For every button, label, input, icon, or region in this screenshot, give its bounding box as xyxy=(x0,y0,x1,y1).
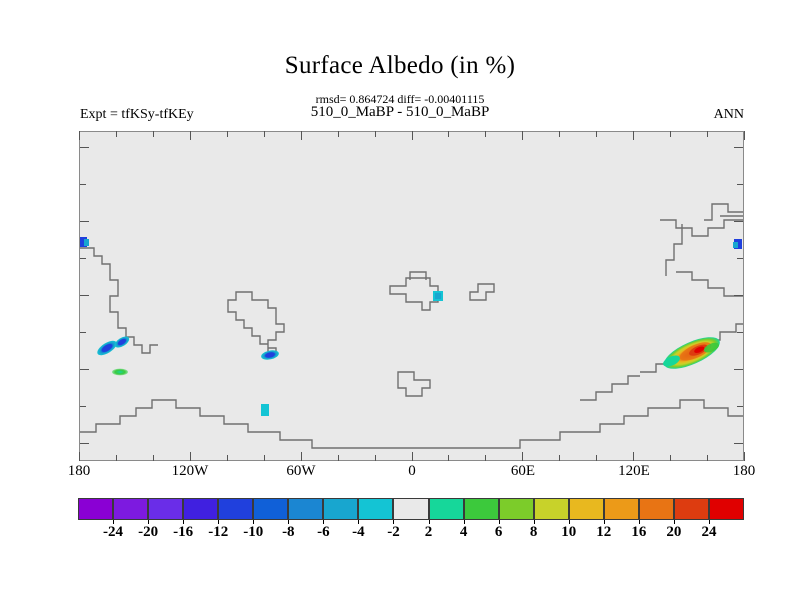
colorbar-swatch-4 xyxy=(218,498,253,520)
x-tick-bottom--40 xyxy=(338,455,339,461)
colorbar-label-16: 16 xyxy=(631,524,646,541)
x-tick-top-160 xyxy=(707,131,708,137)
y-tick-60s xyxy=(80,406,86,407)
x-tick-bottom--120 xyxy=(190,452,191,461)
x-tick-top--60 xyxy=(301,131,302,140)
colorbar-swatch-15 xyxy=(604,498,639,520)
colorbar-swatch-10 xyxy=(429,498,464,520)
colorbar-label--4: -4 xyxy=(352,524,365,541)
x-tick-top-140 xyxy=(670,131,671,137)
colorbar-swatch-12 xyxy=(499,498,534,520)
y-tick-right-60s xyxy=(737,406,743,407)
colorbar xyxy=(78,498,744,520)
x-tick-bottom-0 xyxy=(412,452,413,461)
colorbar-label-8: 8 xyxy=(530,524,538,541)
colorbar-label--6: -6 xyxy=(317,524,330,541)
colorbar-label--8: -8 xyxy=(282,524,295,541)
colorbar-swatch-16 xyxy=(639,498,674,520)
colorbar-swatch-11 xyxy=(464,498,499,520)
colorbar-swatch-18 xyxy=(709,498,744,520)
colorbar-label-6: 6 xyxy=(495,524,503,541)
x-tick-bottom-40 xyxy=(485,455,486,461)
anomaly-east-dateline xyxy=(733,239,742,249)
x-tick-bottom-20 xyxy=(448,455,449,461)
x-tick-bottom--100 xyxy=(227,455,228,461)
x-tick-bottom--140 xyxy=(153,455,154,461)
colorbar-swatch-0 xyxy=(78,498,113,520)
colorbar-swatch-17 xyxy=(674,498,709,520)
y-tick-80s xyxy=(80,443,89,444)
x-tick-top--160 xyxy=(116,131,117,137)
colorbar-swatch-6 xyxy=(288,498,323,520)
x-axis-label-180e: 180 xyxy=(733,463,756,480)
y-tick-right-60n xyxy=(737,184,743,185)
x-tick-top--20 xyxy=(375,131,376,137)
x-tick-top--40 xyxy=(338,131,339,137)
colorbar-label-2: 2 xyxy=(425,524,433,541)
y-tick-right-40n xyxy=(734,221,743,222)
y-tick-40s xyxy=(80,369,89,370)
x-tick-bottom--60 xyxy=(301,452,302,461)
y-tick-40n xyxy=(80,221,89,222)
y-tick-right-20n xyxy=(737,258,743,259)
x-tick-top-20 xyxy=(448,131,449,137)
colorbar-swatch-1 xyxy=(113,498,148,520)
colorbar-label-20: 20 xyxy=(666,524,681,541)
colorbar-swatch-2 xyxy=(148,498,183,520)
experiment-label: Expt = tfKSy-tfKEy xyxy=(80,107,194,123)
colorbar-swatch-13 xyxy=(534,498,569,520)
x-tick-top--140 xyxy=(153,131,154,137)
colorbar-label-24: 24 xyxy=(701,524,716,541)
y-tick-right-80s xyxy=(734,443,743,444)
x-axis-label-0: 0 xyxy=(408,463,416,480)
x-axis-label-120w: 120W xyxy=(172,463,209,480)
x-tick-bottom--20 xyxy=(375,455,376,461)
x-tick-top--100 xyxy=(227,131,228,137)
x-axis-label-180w: 180 xyxy=(68,463,91,480)
page-title: Surface Albedo (in %) xyxy=(0,52,800,80)
x-axis-label-120e: 120E xyxy=(618,463,650,480)
x-tick-bottom-100 xyxy=(596,455,597,461)
x-tick-top-100 xyxy=(596,131,597,137)
y-tick-right-80n xyxy=(734,147,743,148)
map-plot-area xyxy=(79,131,744,461)
y-tick-right-0 xyxy=(734,295,743,296)
colorbar-label-12: 12 xyxy=(596,524,611,541)
x-tick-bottom-120 xyxy=(633,452,634,461)
y-tick-20s xyxy=(80,332,86,333)
y-tick-right-40s xyxy=(734,369,743,370)
y-tick-20n xyxy=(80,258,86,259)
anomaly-southeast-pacific-warm-speck xyxy=(112,369,128,376)
colorbar-label--16: -16 xyxy=(173,524,193,541)
colorbar-swatch-7 xyxy=(323,498,358,520)
colorbar-label-10: 10 xyxy=(561,524,576,541)
colorbar-label--24: -24 xyxy=(103,524,123,541)
x-tick-bottom-60 xyxy=(522,452,523,461)
x-tick-top--120 xyxy=(190,131,191,140)
colorbar-swatch-8 xyxy=(358,498,393,520)
colorbar-label-4: 4 xyxy=(460,524,468,541)
colorbar-swatch-9 xyxy=(393,498,428,520)
anomaly-west-dateline xyxy=(80,237,89,247)
x-axis-label-60w: 60W xyxy=(286,463,315,480)
x-tick-bottom--80 xyxy=(264,455,265,461)
x-tick-top-80 xyxy=(559,131,560,137)
time-period-label: ANN xyxy=(714,107,744,123)
x-tick-bottom-180 xyxy=(744,452,745,461)
x-axis-label-60e: 60E xyxy=(511,463,535,480)
x-tick-bottom--160 xyxy=(116,455,117,461)
anomaly-equatorial-africa xyxy=(433,291,443,301)
x-tick-top--180 xyxy=(79,131,80,140)
anomaly-patagonia xyxy=(260,349,279,361)
anomaly-antarctic-peninsula xyxy=(261,404,269,416)
y-tick-60n xyxy=(80,184,86,185)
colorbar-swatch-5 xyxy=(253,498,288,520)
x-tick-bottom-140 xyxy=(670,455,671,461)
colorbar-swatch-3 xyxy=(183,498,218,520)
x-tick-bottom--180 xyxy=(79,452,80,461)
anomaly-southeast-australia xyxy=(659,331,724,376)
x-tick-top-180 xyxy=(744,131,745,140)
x-tick-top-120 xyxy=(633,131,634,140)
y-tick-80n xyxy=(80,147,89,148)
x-tick-top-40 xyxy=(485,131,486,137)
anomaly-southeast-pacific-a xyxy=(95,338,119,358)
y-tick-0 xyxy=(80,295,89,296)
colorbar-label--10: -10 xyxy=(243,524,263,541)
world-map-coastlines xyxy=(80,132,743,460)
x-tick-top--80 xyxy=(264,131,265,137)
colorbar-label--20: -20 xyxy=(138,524,158,541)
x-tick-top-60 xyxy=(522,131,523,140)
x-tick-bottom-160 xyxy=(707,455,708,461)
colorbar-swatch-14 xyxy=(569,498,604,520)
x-tick-bottom-80 xyxy=(559,455,560,461)
y-tick-right-20s xyxy=(737,332,743,333)
colorbar-label--2: -2 xyxy=(387,524,400,541)
x-tick-top-0 xyxy=(412,131,413,140)
colorbar-label--12: -12 xyxy=(208,524,228,541)
